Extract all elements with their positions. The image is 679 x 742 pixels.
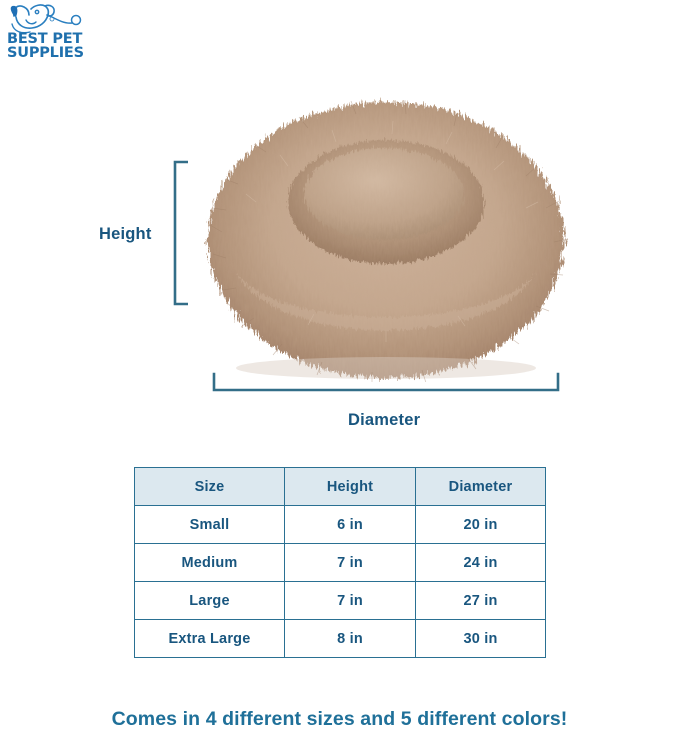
brand-logo: BEST PET SUPPLIES [4, 2, 100, 68]
diameter-bracket [212, 372, 560, 394]
cell-height: 8 in [285, 620, 416, 658]
cell-diameter: 30 in [416, 620, 546, 658]
brand-wordmark: BEST PET SUPPLIES [7, 32, 99, 60]
product-image-round-pet-bed [196, 82, 576, 382]
table-row: Medium 7 in 24 in [135, 544, 546, 582]
cell-diameter: 20 in [416, 506, 546, 544]
footer-tagline: Comes in 4 different sizes and 5 differe… [0, 708, 679, 731]
brand-line-2: SUPPLIES [7, 46, 99, 60]
pet-bed-illustration [196, 82, 576, 382]
table-row: Extra Large 8 in 30 in [135, 620, 546, 658]
brand-line-1: BEST PET [7, 32, 99, 46]
cell-size: Large [135, 582, 285, 620]
table-header-row: Size Height Diameter [135, 468, 546, 506]
table-row: Large 7 in 27 in [135, 582, 546, 620]
height-dimension-label: Height [99, 225, 152, 244]
column-header-height: Height [285, 468, 416, 506]
cell-size: Small [135, 506, 285, 544]
column-header-diameter: Diameter [416, 468, 546, 506]
cell-size: Medium [135, 544, 285, 582]
cell-height: 6 in [285, 506, 416, 544]
cell-height: 7 in [285, 582, 416, 620]
cell-height: 7 in [285, 544, 416, 582]
column-header-size: Size [135, 468, 285, 506]
cell-size: Extra Large [135, 620, 285, 658]
height-bracket [172, 160, 188, 306]
table-row: Small 6 in 20 in [135, 506, 546, 544]
diameter-dimension-label: Diameter [348, 411, 420, 430]
cell-diameter: 27 in [416, 582, 546, 620]
size-specification-table: Size Height Diameter Small 6 in 20 in Me… [134, 467, 546, 658]
cell-diameter: 24 in [416, 544, 546, 582]
